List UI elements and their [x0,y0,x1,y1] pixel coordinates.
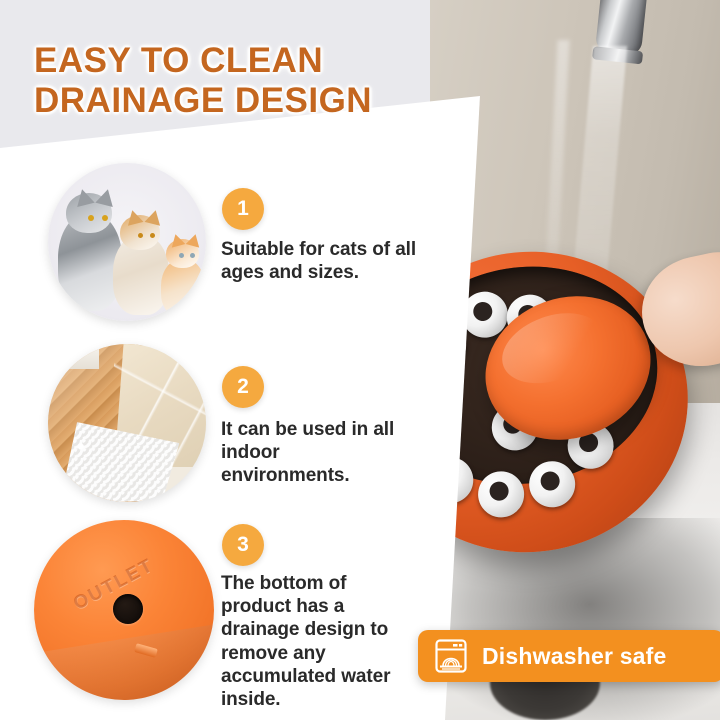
feature-3-thumbnail: OUTLET [34,520,214,700]
feature-3-text: The bottom of product has a drainage des… [221,572,393,711]
cat-kitten [158,237,206,317]
dishwasher-icon [434,638,468,674]
drain-hole [113,594,143,624]
feature-1-text: Suitable for cats of all ages and sizes. [221,238,417,284]
feature-2-thumbnail [48,344,206,502]
feature-1-number: 1 [237,197,249,221]
feature-2-number-badge: 2 [222,366,264,408]
feature-2-text: It can be used in all indoor environment… [221,418,401,488]
feature-1-thumbnail [48,163,206,321]
dishwasher-safe-badge: Dishwasher safe [418,630,720,682]
feature-2-number: 2 [237,375,249,399]
outlet-rim [34,624,214,700]
title-line-2: DRAINAGE DESIGN [34,81,434,121]
feature-1-number-badge: 1 [222,188,264,230]
feature-3-number-badge: 3 [222,524,264,566]
baseboard [48,344,99,369]
page-title: EASY TO CLEAN DRAINAGE DESIGN [34,41,434,121]
feature-3-number: 3 [237,533,249,557]
title-line-1: EASY TO CLEAN [34,41,323,80]
dishwasher-safe-label: Dishwasher safe [482,643,667,670]
infographic-canvas: EASY TO CLEAN DRAINAGE DESIGN 1 Suitable… [0,0,720,720]
